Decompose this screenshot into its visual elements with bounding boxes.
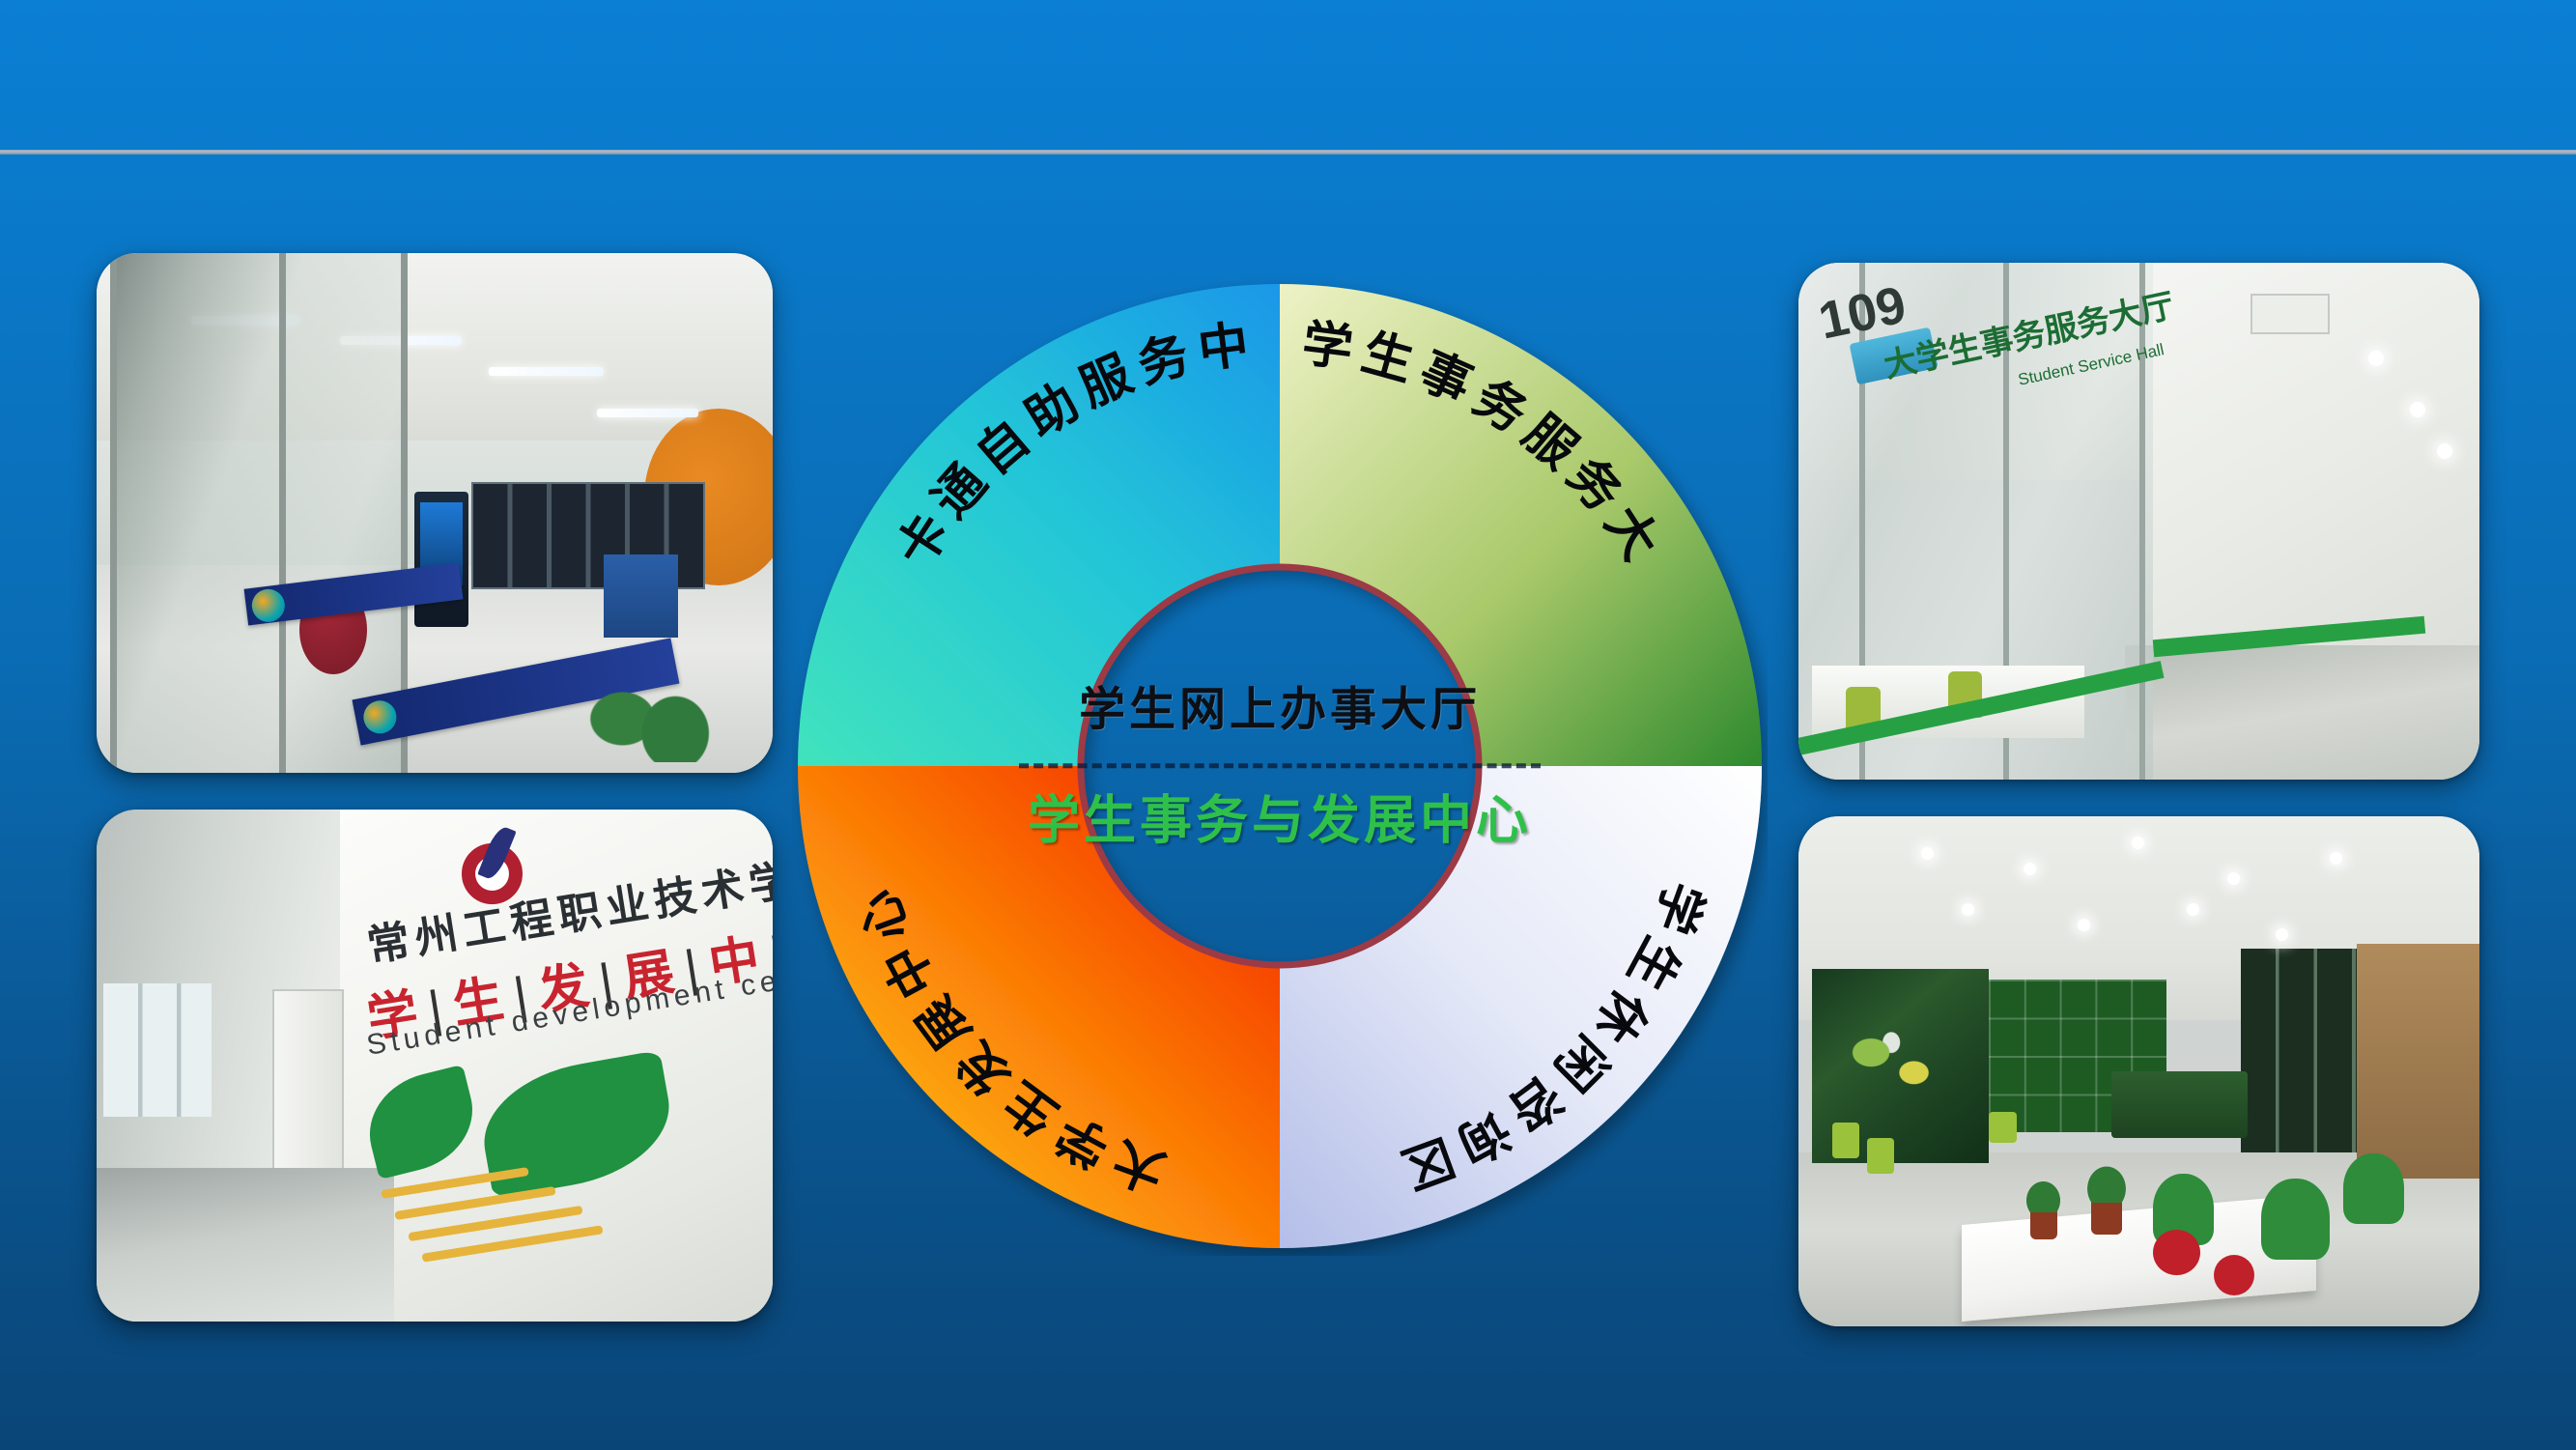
self-service-hall-photo[interactable]: [97, 253, 773, 773]
ceiling-light: [597, 409, 698, 417]
ceiling-light: [489, 367, 604, 376]
mullion: [2139, 263, 2145, 780]
green-chair: [2261, 1179, 2330, 1260]
ceiling-vent: [2250, 294, 2330, 333]
interior-window: [2241, 949, 2357, 1152]
downlight: [2078, 919, 2090, 931]
ceiling-spotlight: [2437, 443, 2452, 459]
potted-plant: [2030, 1209, 2057, 1240]
photo-content: [97, 253, 773, 773]
door-frame: [279, 253, 286, 773]
photo-content: 常州工程职业技术学院 学|生|发|展|中|心 Student developme…: [97, 810, 773, 1322]
downlight: [2024, 863, 2036, 875]
downlight: [2187, 903, 2199, 916]
center-title-secondary: 学生事务与发展中心: [980, 789, 1579, 852]
photo-content: 109 大学生事务服务大厅 Student Service Hall: [1798, 263, 2479, 780]
student-lounge-photo[interactable]: [1798, 816, 2479, 1326]
wood-panel-wall: [2357, 944, 2479, 1179]
bar-stool: [1989, 1112, 2016, 1143]
center-title-primary: 学生网上办事大厅: [980, 682, 1579, 738]
service-ring-diagram: 一卡通自助服务中心 大学生事务服务大厅 学生休闲咨询区 大学生发展中心 学生网上…: [792, 278, 1768, 1256]
student-development-center-photo[interactable]: 常州工程职业技术学院 学|生|发|展|中|心 Student developme…: [97, 810, 773, 1322]
slide-canvas: 常州工程职业技术学院 学|生|发|展|中|心 Student developme…: [0, 0, 2576, 1450]
bar-stool: [1832, 1123, 1859, 1158]
student-service-hall-109-photo[interactable]: 109 大学生事务服务大厅 Student Service Hall: [1798, 263, 2479, 780]
center-dashed-divider: [1019, 763, 1541, 768]
potted-plant: [570, 617, 746, 763]
red-chair: [2153, 1230, 2200, 1276]
glass-doors: [110, 253, 408, 773]
photo-content: [1798, 816, 2479, 1326]
downlight: [1921, 847, 1934, 860]
banner-logo-icon: [360, 698, 399, 737]
door-frame: [110, 253, 117, 773]
bar-stool: [1867, 1138, 1894, 1174]
header-divider-rule: [0, 150, 2576, 155]
banner-logo-icon: [250, 586, 287, 623]
ring-center-text: 学生网上办事大厅 学生事务与发展中心: [980, 682, 1579, 851]
potted-plant: [2091, 1199, 2122, 1235]
green-chair: [2343, 1153, 2404, 1225]
floor: [97, 1168, 394, 1322]
downlight: [2330, 852, 2342, 865]
service-counter: [2111, 1071, 2248, 1138]
floor: [2125, 645, 2479, 780]
downlight: [1962, 903, 1974, 916]
corridor-window: [103, 983, 212, 1117]
downlight: [2276, 928, 2288, 941]
ceiling-spotlight: [2410, 402, 2425, 417]
